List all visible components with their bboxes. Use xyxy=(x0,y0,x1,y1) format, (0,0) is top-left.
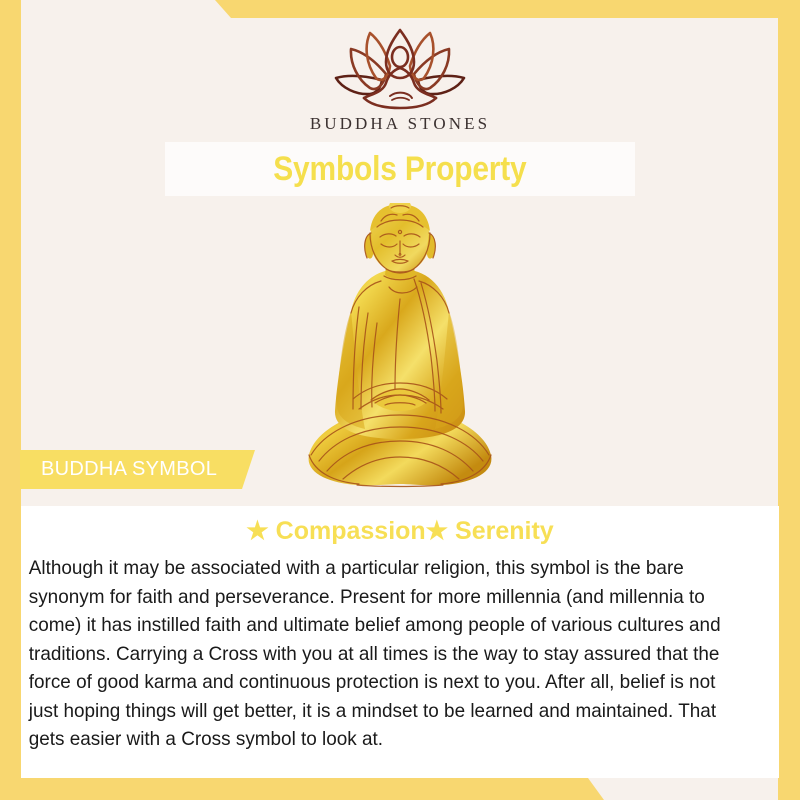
page-title: Symbols Property xyxy=(273,150,526,189)
section-ribbon-label: BUDDHA SYMBOL xyxy=(20,458,217,481)
golden-buddha-statue-image xyxy=(293,203,508,493)
page-title-band: Symbols Property xyxy=(165,142,635,196)
product-infographic-page: BUDDHA STONES Symbols Property xyxy=(0,0,800,800)
frame-bottom-bar xyxy=(0,778,800,800)
hero-image-container xyxy=(0,198,800,493)
brand-wordmark: BUDDHA STONES xyxy=(0,114,800,134)
attributes-tagline: ★ Compassion★ Serenity xyxy=(21,506,779,546)
content-card: ★ Compassion★ Serenity Although it may b… xyxy=(21,506,779,778)
brand-logo-block: BUDDHA STONES xyxy=(0,24,800,134)
description-paragraph: Although it may be associated with a par… xyxy=(21,546,756,754)
section-ribbon-buddha-symbol: BUDDHA SYMBOL xyxy=(20,450,255,489)
frame-top-bar xyxy=(0,0,800,18)
lotus-meditation-figure-icon xyxy=(320,24,480,110)
